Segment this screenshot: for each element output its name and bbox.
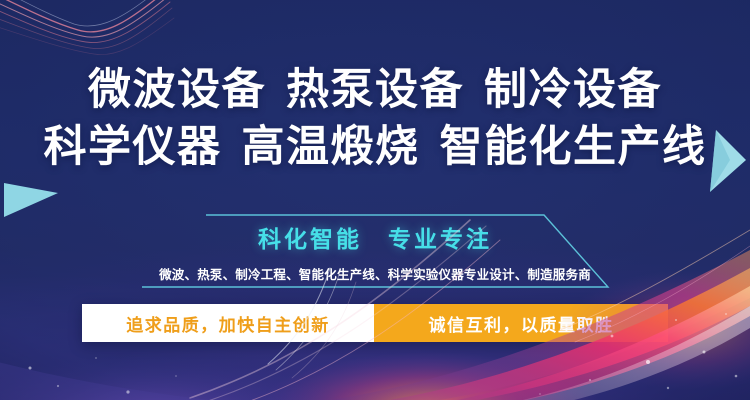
headline-item-microwave: 微波设备 [88, 66, 266, 114]
headline-line-1: 微波设备热泵设备制冷设备 [0, 62, 750, 119]
promo-banner: 微波设备热泵设备制冷设备 科学仪器高温煅烧智能化生产线 科化智能专业专注 微波、… [0, 0, 750, 400]
headline-item-refrigeration: 制冷设备 [484, 66, 662, 114]
headline-item-instruments: 科学仪器 [44, 123, 222, 171]
banner-headline: 微波设备热泵设备制冷设备 科学仪器高温煅烧智能化生产线 [0, 62, 750, 176]
headline-item-calcination: 高温煅烧 [242, 123, 420, 171]
headline-line-2: 科学仪器高温煅烧智能化生产线 [0, 119, 750, 176]
triangle-right-icon [4, 181, 58, 217]
banner-description: 微波、热泵、制冷工程、智能化生产线、科学实验仪器专业设计、制造服务商 [0, 264, 750, 283]
cyan-slogan: 科化智能专业专注 [0, 220, 750, 254]
slogan-bar-quality[interactable]: 追求品质，加快自主创新 [82, 304, 374, 342]
cyan-slogan-left: 科化智能 [258, 226, 362, 252]
cyan-slogan-right: 专业专注 [388, 226, 492, 252]
headline-item-production-line: 智能化生产线 [440, 123, 707, 171]
headline-item-heatpump: 热泵设备 [286, 66, 464, 114]
slogan-bars: 追求品质，加快自主创新 诚信互利，以质量取胜 [82, 304, 668, 342]
slogan-bar-integrity[interactable]: 诚信互利，以质量取胜 [374, 304, 668, 342]
